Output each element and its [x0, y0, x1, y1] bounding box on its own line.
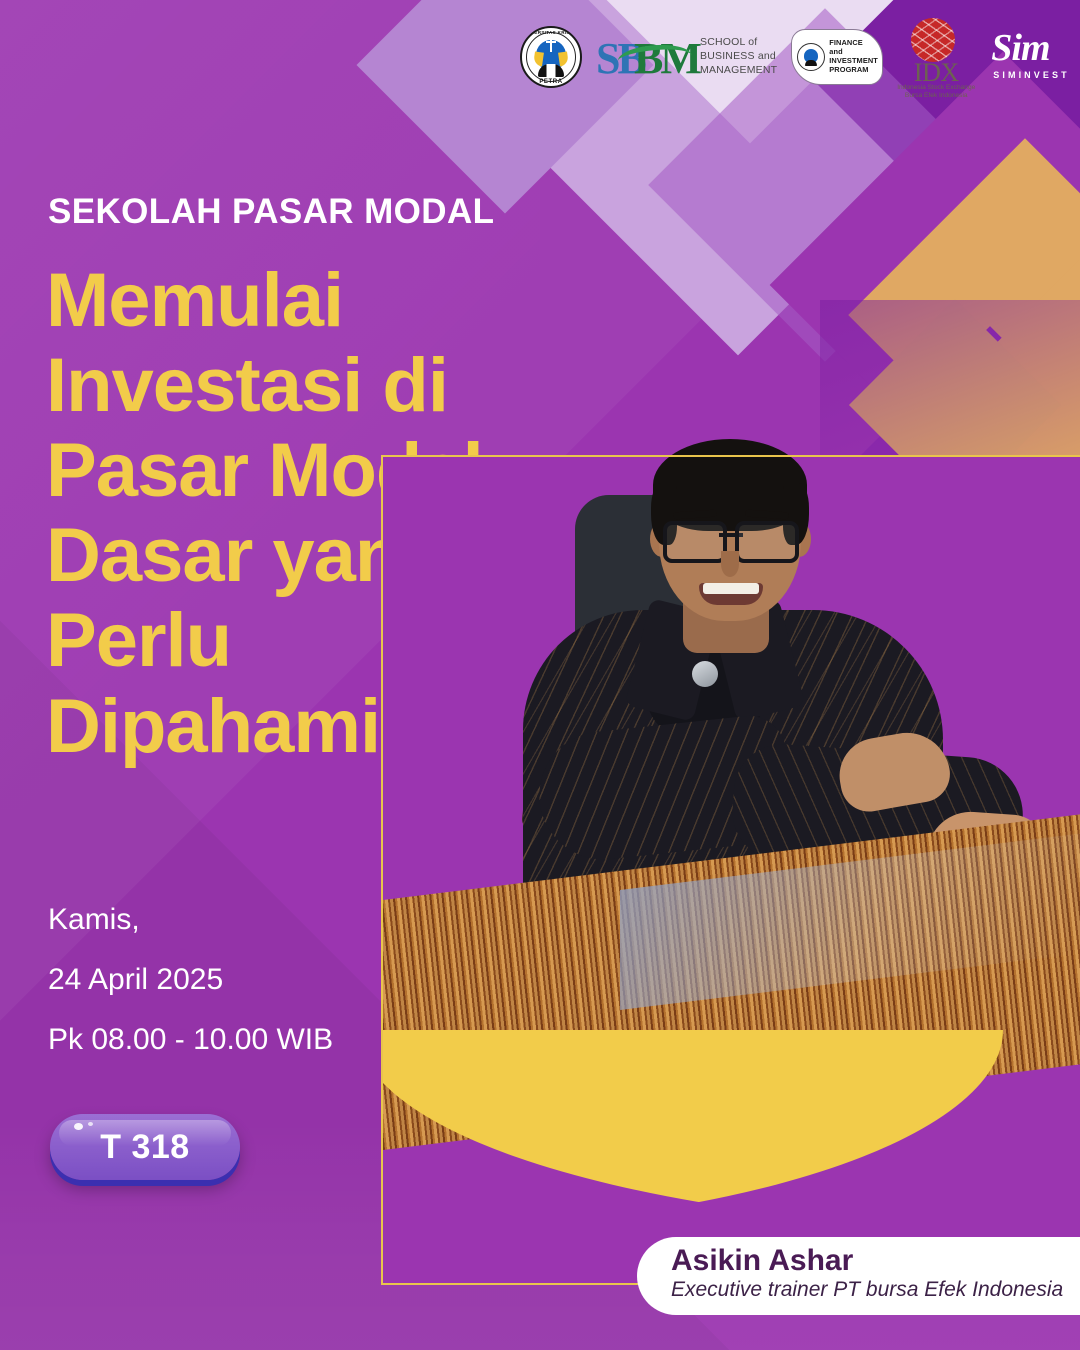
badge-highlight-dot-large	[74, 1123, 83, 1130]
idx-subtitle-en: Indonesia Stock Exchange	[888, 84, 984, 92]
badge-highlight-dot-small	[88, 1122, 93, 1126]
fip-seal-icon	[797, 43, 825, 71]
fip-wordmark: FINANCE and INVESTMENT PROGRAM	[829, 39, 878, 75]
idx-globe-icon	[911, 18, 955, 62]
fip-line-3: PROGRAM	[829, 66, 878, 75]
siminvest-wordmark: Sim	[991, 26, 1049, 70]
room-badge-label: T 318	[100, 1128, 189, 1167]
siminvest-logo: Sim SIMINVEST	[989, 26, 1073, 88]
sbm-logo: SB BM SCHOOL of BUSINESS and MANAGEMENT	[596, 29, 777, 85]
sbm-line-1: SCHOOL of	[700, 36, 777, 50]
headline-line: Memulai	[46, 258, 566, 343]
sbm-wordmark: SCHOOL of BUSINESS and MANAGEMENT	[700, 36, 777, 78]
photo-frame-outline	[381, 455, 1080, 1285]
sbm-line-2: BUSINESS and	[700, 50, 777, 64]
event-poster: UNIVERSITAS KRISTEN PETRA SB BM SCHOOL o…	[0, 0, 1080, 1350]
idx-logo: IDX Indonesia Stock Exchange Bursa Efek …	[897, 18, 975, 96]
partner-logo-strip: UNIVERSITAS KRISTEN PETRA SB BM SCHOOL o…	[520, 14, 1065, 100]
fip-line-1: FINANCE and	[829, 39, 878, 57]
room-badge[interactable]: T 318	[50, 1114, 240, 1180]
universitas-kristen-petra-logo: UNIVERSITAS KRISTEN PETRA	[520, 26, 582, 88]
speaker-name: Asikin Ashar	[671, 1245, 1066, 1277]
poster-kicker: SEKOLAH PASAR MODAL	[48, 192, 494, 232]
siminvest-subtitle: SIMINVEST	[993, 70, 1069, 80]
speaker-role: Executive trainer PT bursa Efek Indonesi…	[671, 1278, 1066, 1302]
petra-seal-icon: UNIVERSITAS KRISTEN PETRA	[520, 26, 582, 88]
headline-line: Investasi di	[46, 343, 566, 428]
idx-subtitle: Indonesia Stock Exchange Bursa Efek Indo…	[888, 84, 984, 100]
sbm-monogram-icon: SB BM	[596, 29, 700, 85]
petra-seal-top-text: UNIVERSITAS KRISTEN	[522, 30, 580, 35]
petra-seal-bottom-text: PETRA	[522, 79, 580, 85]
idx-subtitle-id: Bursa Efek Indonesia	[888, 92, 984, 100]
speaker-name-banner: Asikin Ashar Executive trainer PT bursa …	[637, 1237, 1080, 1315]
sbm-line-3: MANAGEMENT	[700, 64, 777, 78]
finance-investment-program-logo: FINANCE and INVESTMENT PROGRAM	[791, 29, 883, 85]
